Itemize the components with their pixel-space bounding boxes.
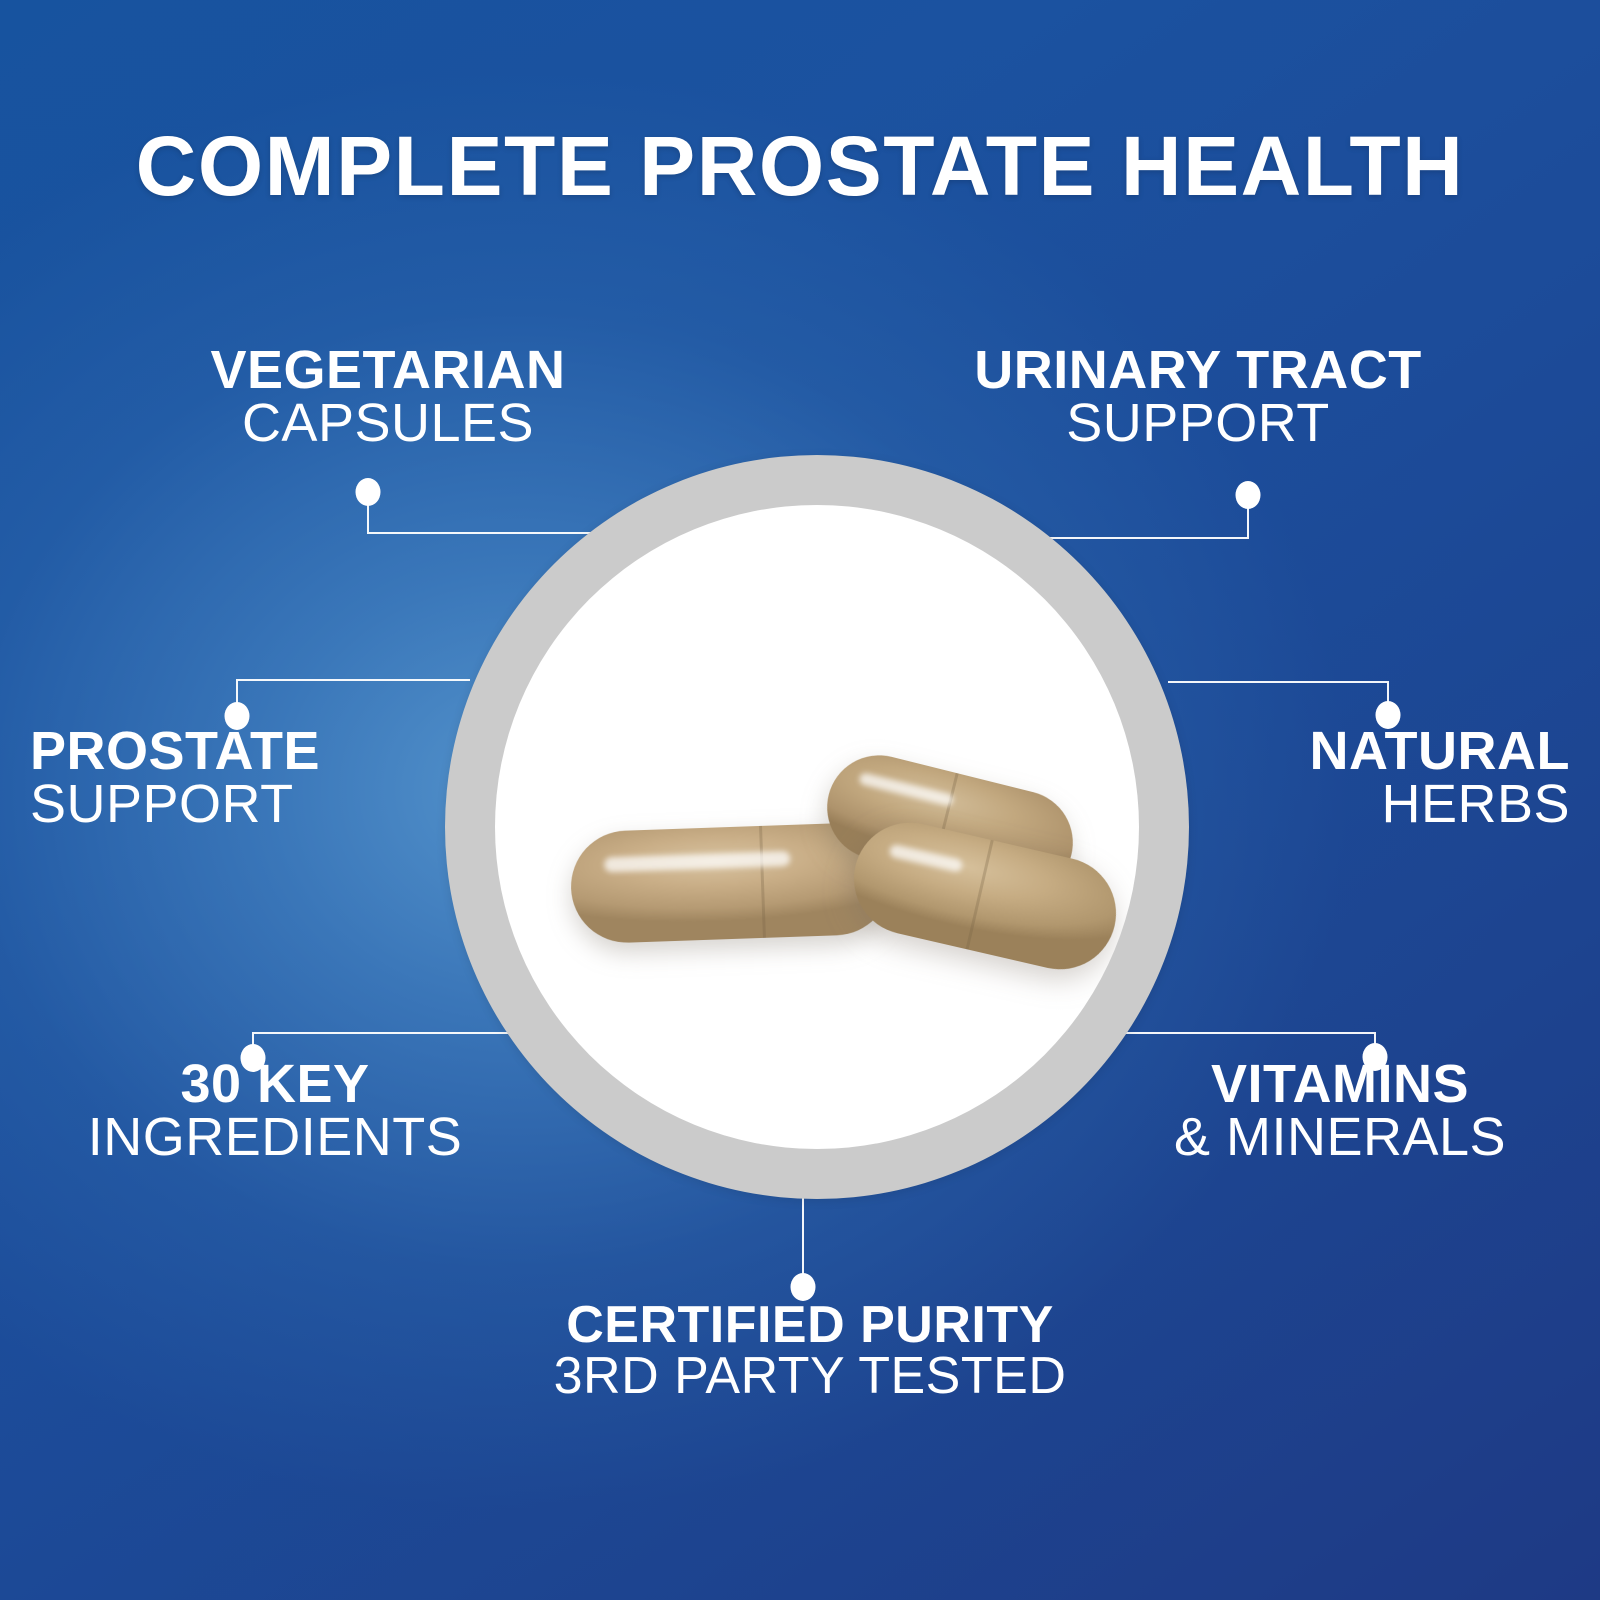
feature-line2: SUPPORT xyxy=(928,397,1468,450)
feature-callout-urinary: URINARY TRACT SUPPORT xyxy=(928,344,1468,450)
callout-dot-urinary xyxy=(1236,481,1261,509)
connector-vitamins xyxy=(1110,1033,1375,1049)
feature-line2: HERBS xyxy=(1205,778,1570,831)
feature-line2: & MINERALS xyxy=(1120,1111,1560,1164)
product-image xyxy=(495,505,1139,1149)
feature-line2: CAPSULES xyxy=(178,397,598,450)
feature-line1: PROSTATE xyxy=(30,725,430,778)
feature-line1: 30 KEY xyxy=(60,1058,490,1111)
connector-thirty xyxy=(253,1033,520,1050)
product-image-ring xyxy=(445,455,1189,1199)
feature-line2: 3RD PARTY TESTED xyxy=(480,1351,1140,1402)
product-infographic: COMPLETE PROSTATE HEALTH xyxy=(0,0,1600,1600)
connector-urinary xyxy=(1030,503,1248,538)
feature-line1: CERTIFIED PURITY xyxy=(480,1300,1140,1351)
page-title: COMPLETE PROSTATE HEALTH xyxy=(0,124,1600,208)
feature-callout-natural: NATURAL HERBS xyxy=(1205,725,1570,831)
feature-line1: VEGETARIAN xyxy=(178,344,598,397)
feature-callout-prostate: PROSTATE SUPPORT xyxy=(30,725,430,831)
feature-line1: VITAMINS xyxy=(1120,1058,1560,1111)
feature-callout-purity: CERTIFIED PURITY 3RD PARTY TESTED xyxy=(480,1300,1140,1402)
feature-line1: NATURAL xyxy=(1205,725,1570,778)
connector-vegetarian xyxy=(368,500,600,533)
feature-callout-vitamins: VITAMINS & MINERALS xyxy=(1120,1058,1560,1164)
connector-prostate xyxy=(237,680,470,708)
connector-natural xyxy=(1168,682,1388,707)
feature-line2: SUPPORT xyxy=(30,778,430,831)
callout-dot-vegetarian xyxy=(356,478,381,506)
feature-line2: INGREDIENTS xyxy=(60,1111,490,1164)
feature-callout-ingredients: 30 KEY INGREDIENTS xyxy=(60,1058,490,1164)
feature-line1: URINARY TRACT xyxy=(928,344,1468,397)
feature-callout-vegetarian: VEGETARIAN CAPSULES xyxy=(178,344,598,450)
